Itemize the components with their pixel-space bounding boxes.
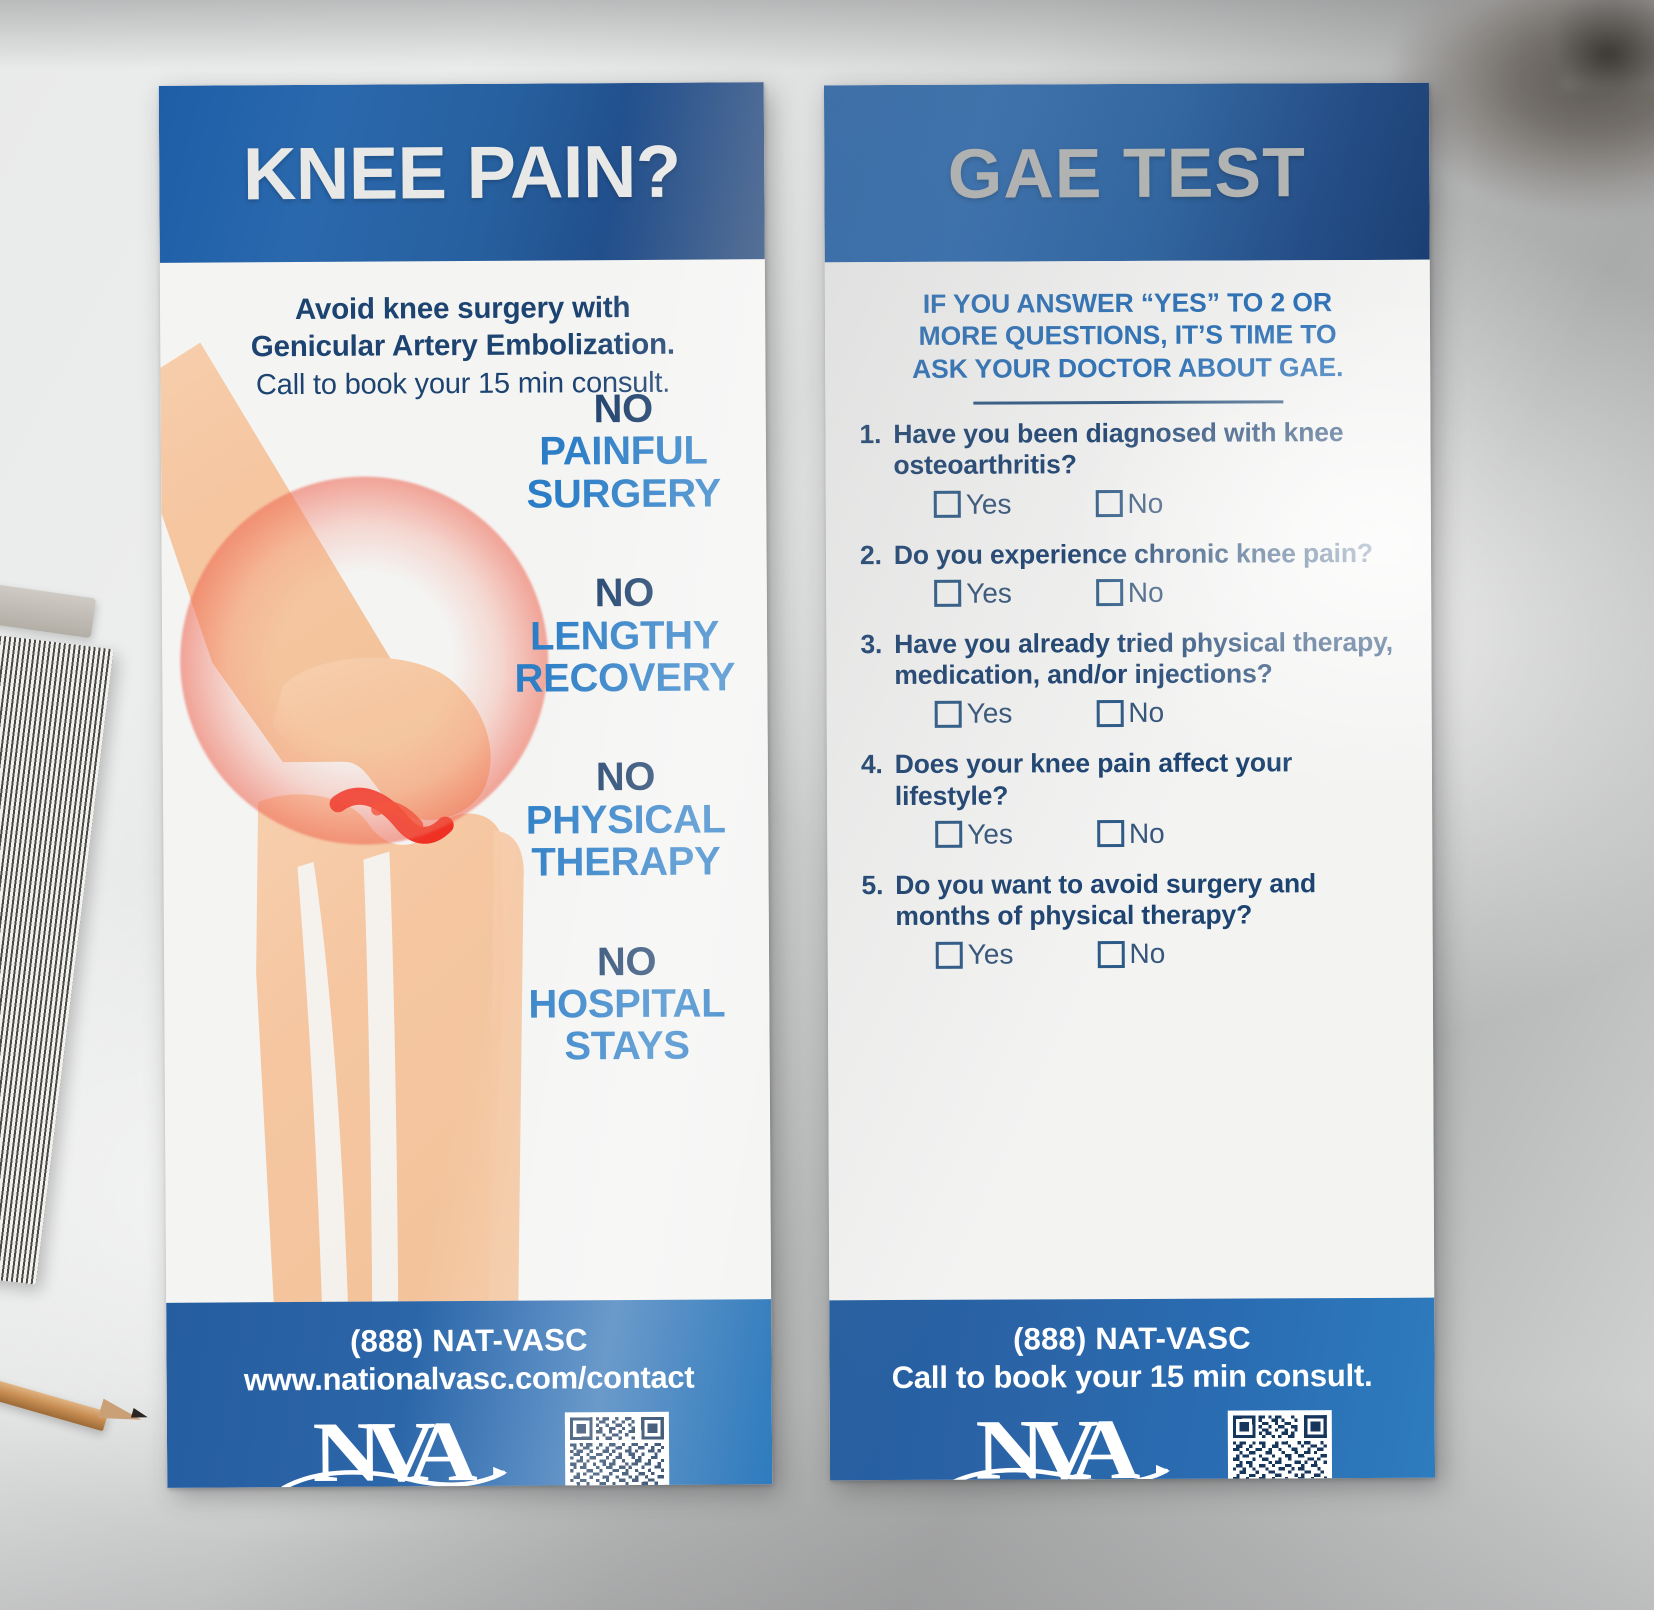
question-number: 3. xyxy=(860,629,882,692)
knee-pain-body: Avoid knee surgery with Genicular Artery… xyxy=(160,259,771,1303)
gae-test-body: IF YOU ANSWER “YES” TO 2 OR MORE QUESTIO… xyxy=(825,260,1435,1301)
leadin-line-2: Genicular Artery Embolization. xyxy=(202,326,723,366)
footer-phone[interactable]: (888) NAT-VASC xyxy=(166,1321,771,1361)
checkbox-icon[interactable] xyxy=(935,701,962,728)
question-item: 3. Have you already tried physical thera… xyxy=(860,627,1397,729)
nva-logo-mark: NVA xyxy=(918,1413,1196,1481)
checkbox-icon[interactable] xyxy=(1096,579,1123,606)
benefit-line-1: PHYSICAL xyxy=(483,798,768,842)
question-text: Do you experience chronic knee pain? xyxy=(894,537,1397,570)
benefit-item: NO LENGTHY RECOVERY xyxy=(482,571,768,700)
footer-tagline: Call to book your 15 min consult. xyxy=(830,1358,1435,1397)
benefit-line-1: PAINFUL xyxy=(481,430,766,474)
answer-label: Yes xyxy=(967,820,1013,848)
benefit-line-2: SURGERY xyxy=(481,472,766,516)
checkbox-icon[interactable] xyxy=(1097,820,1124,847)
nva-logo: NVA National Vascular Associates xyxy=(270,1415,519,1488)
question-text: Does your knee pain affect your lifestyl… xyxy=(895,747,1398,812)
benefit-line-1: HOSPITAL xyxy=(484,982,769,1026)
answer-options: Yes No xyxy=(860,488,1397,518)
question-line: 4. Does your knee pain affect your lifes… xyxy=(861,747,1398,812)
footer-website[interactable]: www.nationalvasc.com/contact xyxy=(167,1359,772,1399)
question-line: 2. Do you experience chronic knee pain? xyxy=(860,537,1397,571)
answer-label: No xyxy=(1127,489,1163,517)
footer-brand-row: NVA National Vascular Associates xyxy=(167,1411,772,1488)
benefit-line-1: LENGTHY xyxy=(482,614,767,658)
answer-no[interactable]: No xyxy=(1097,820,1165,848)
checkbox-icon[interactable] xyxy=(935,821,962,848)
benefit-line-2: THERAPY xyxy=(483,840,768,884)
gae-test-card: GAE TEST IF YOU ANSWER “YES” TO 2 OR MOR… xyxy=(824,83,1435,1481)
answer-label: No xyxy=(1128,579,1164,607)
answer-yes[interactable]: Yes xyxy=(936,941,1014,969)
answer-label: Yes xyxy=(967,700,1013,728)
footer-phone[interactable]: (888) NAT-VASC xyxy=(829,1320,1434,1359)
benefit-no-word: NO xyxy=(482,571,767,615)
qr-code-icon[interactable] xyxy=(564,1412,669,1488)
benefit-no-word: NO xyxy=(481,387,766,431)
checkbox-icon[interactable] xyxy=(936,942,963,969)
divider-rule xyxy=(973,400,1283,404)
intro-line-1: IF YOU ANSWER “YES” TO 2 OR xyxy=(859,286,1396,321)
answer-options: Yes No xyxy=(862,939,1399,969)
checkbox-icon[interactable] xyxy=(1095,490,1122,517)
answer-no[interactable]: No xyxy=(1096,579,1164,607)
knee-pain-title: KNEE PAIN? xyxy=(243,134,681,211)
question-number: 2. xyxy=(860,540,882,571)
question-item: 1. Have you been diagnosed with knee ost… xyxy=(859,417,1396,519)
question-line: 5. Do you want to avoid surgery and mont… xyxy=(861,868,1398,933)
answer-label: Yes xyxy=(966,579,1012,607)
benefit-line-2: RECOVERY xyxy=(482,656,767,700)
nva-logo-mark: NVA xyxy=(255,1415,533,1488)
answer-no[interactable]: No xyxy=(1095,489,1163,517)
benefit-no-word: NO xyxy=(484,940,769,984)
answer-yes[interactable]: Yes xyxy=(935,820,1013,848)
desk-scene: KNEE PAIN? xyxy=(0,0,1654,1610)
question-text: Have you already tried physical therapy,… xyxy=(894,627,1397,692)
knee-pain-leadin: Avoid knee surgery with Genicular Artery… xyxy=(160,259,766,406)
checkbox-icon[interactable] xyxy=(934,580,961,607)
answer-no[interactable]: No xyxy=(1097,940,1165,968)
gae-test-title: GAE TEST xyxy=(948,137,1306,209)
benefit-line-2: STAYS xyxy=(484,1024,769,1068)
benefit-item: NO HOSPITAL STAYS xyxy=(484,940,770,1069)
question-text: Have you been diagnosed with knee osteoa… xyxy=(893,417,1396,482)
answer-label: No xyxy=(1129,820,1165,848)
intro-line-3: ASK YOUR DOCTOR ABOUT GAE. xyxy=(859,350,1396,385)
answer-no[interactable]: No xyxy=(1096,699,1164,727)
striped-notebook xyxy=(0,635,114,1284)
benefit-no-word: NO xyxy=(483,755,768,799)
leadin-line-1: Avoid knee surgery with xyxy=(202,289,723,329)
question-text: Do you want to avoid surgery and months … xyxy=(895,868,1398,933)
question-number: 5. xyxy=(861,870,883,933)
question-number: 1. xyxy=(859,419,881,482)
question-item: 4. Does your knee pain affect your lifes… xyxy=(861,747,1398,849)
knee-pain-header-band: KNEE PAIN? xyxy=(159,82,765,263)
answer-label: No xyxy=(1129,940,1165,968)
knee-pain-footer: (888) NAT-VASC www.nationalvasc.com/cont… xyxy=(166,1299,772,1488)
gae-test-intro: IF YOU ANSWER “YES” TO 2 OR MORE QUESTIO… xyxy=(859,286,1396,385)
gae-test-header-band: GAE TEST xyxy=(824,83,1430,263)
answer-yes[interactable]: Yes xyxy=(935,700,1013,728)
question-number: 4. xyxy=(861,749,883,812)
answer-yes[interactable]: Yes xyxy=(934,490,1012,518)
question-line: 3. Have you already tried physical thera… xyxy=(860,627,1397,692)
benefit-item: NO PAINFUL SURGERY xyxy=(481,387,767,516)
checkbox-icon[interactable] xyxy=(934,491,961,518)
question-item: 2. Do you experience chronic knee pain? … xyxy=(860,537,1397,608)
answer-label: Yes xyxy=(966,490,1012,518)
desk-dark-object-edge xyxy=(1560,0,1654,90)
question-line: 1. Have you been diagnosed with knee ost… xyxy=(859,417,1396,482)
intro-line-2: MORE QUESTIONS, IT’S TIME TO xyxy=(859,318,1396,353)
answer-label: No xyxy=(1128,699,1164,727)
footer-brand-row: NVA National Vascular Associates xyxy=(830,1410,1435,1481)
answer-options: Yes No xyxy=(860,578,1397,608)
checkbox-icon[interactable] xyxy=(1096,700,1123,727)
notebook-cover xyxy=(0,582,96,638)
answer-options: Yes No xyxy=(861,819,1398,849)
checkbox-icon[interactable] xyxy=(1097,941,1124,968)
answer-options: Yes No xyxy=(861,698,1398,728)
question-item: 5. Do you want to avoid surgery and mont… xyxy=(861,868,1398,970)
nva-logo: NVA National Vascular Associates xyxy=(933,1413,1181,1481)
answer-label: Yes xyxy=(968,941,1014,969)
benefit-item: NO PHYSICAL THERAPY xyxy=(483,755,769,884)
gae-test-footer: (888) NAT-VASC Call to book your 15 min … xyxy=(829,1298,1435,1481)
qr-code-icon[interactable] xyxy=(1227,1410,1331,1480)
benefits-list: NO PAINFUL SURGERY NO LENGTHY RECOVERY N… xyxy=(481,387,770,1068)
answer-yes[interactable]: Yes xyxy=(934,579,1012,607)
knee-pain-card: KNEE PAIN? xyxy=(159,82,773,1488)
